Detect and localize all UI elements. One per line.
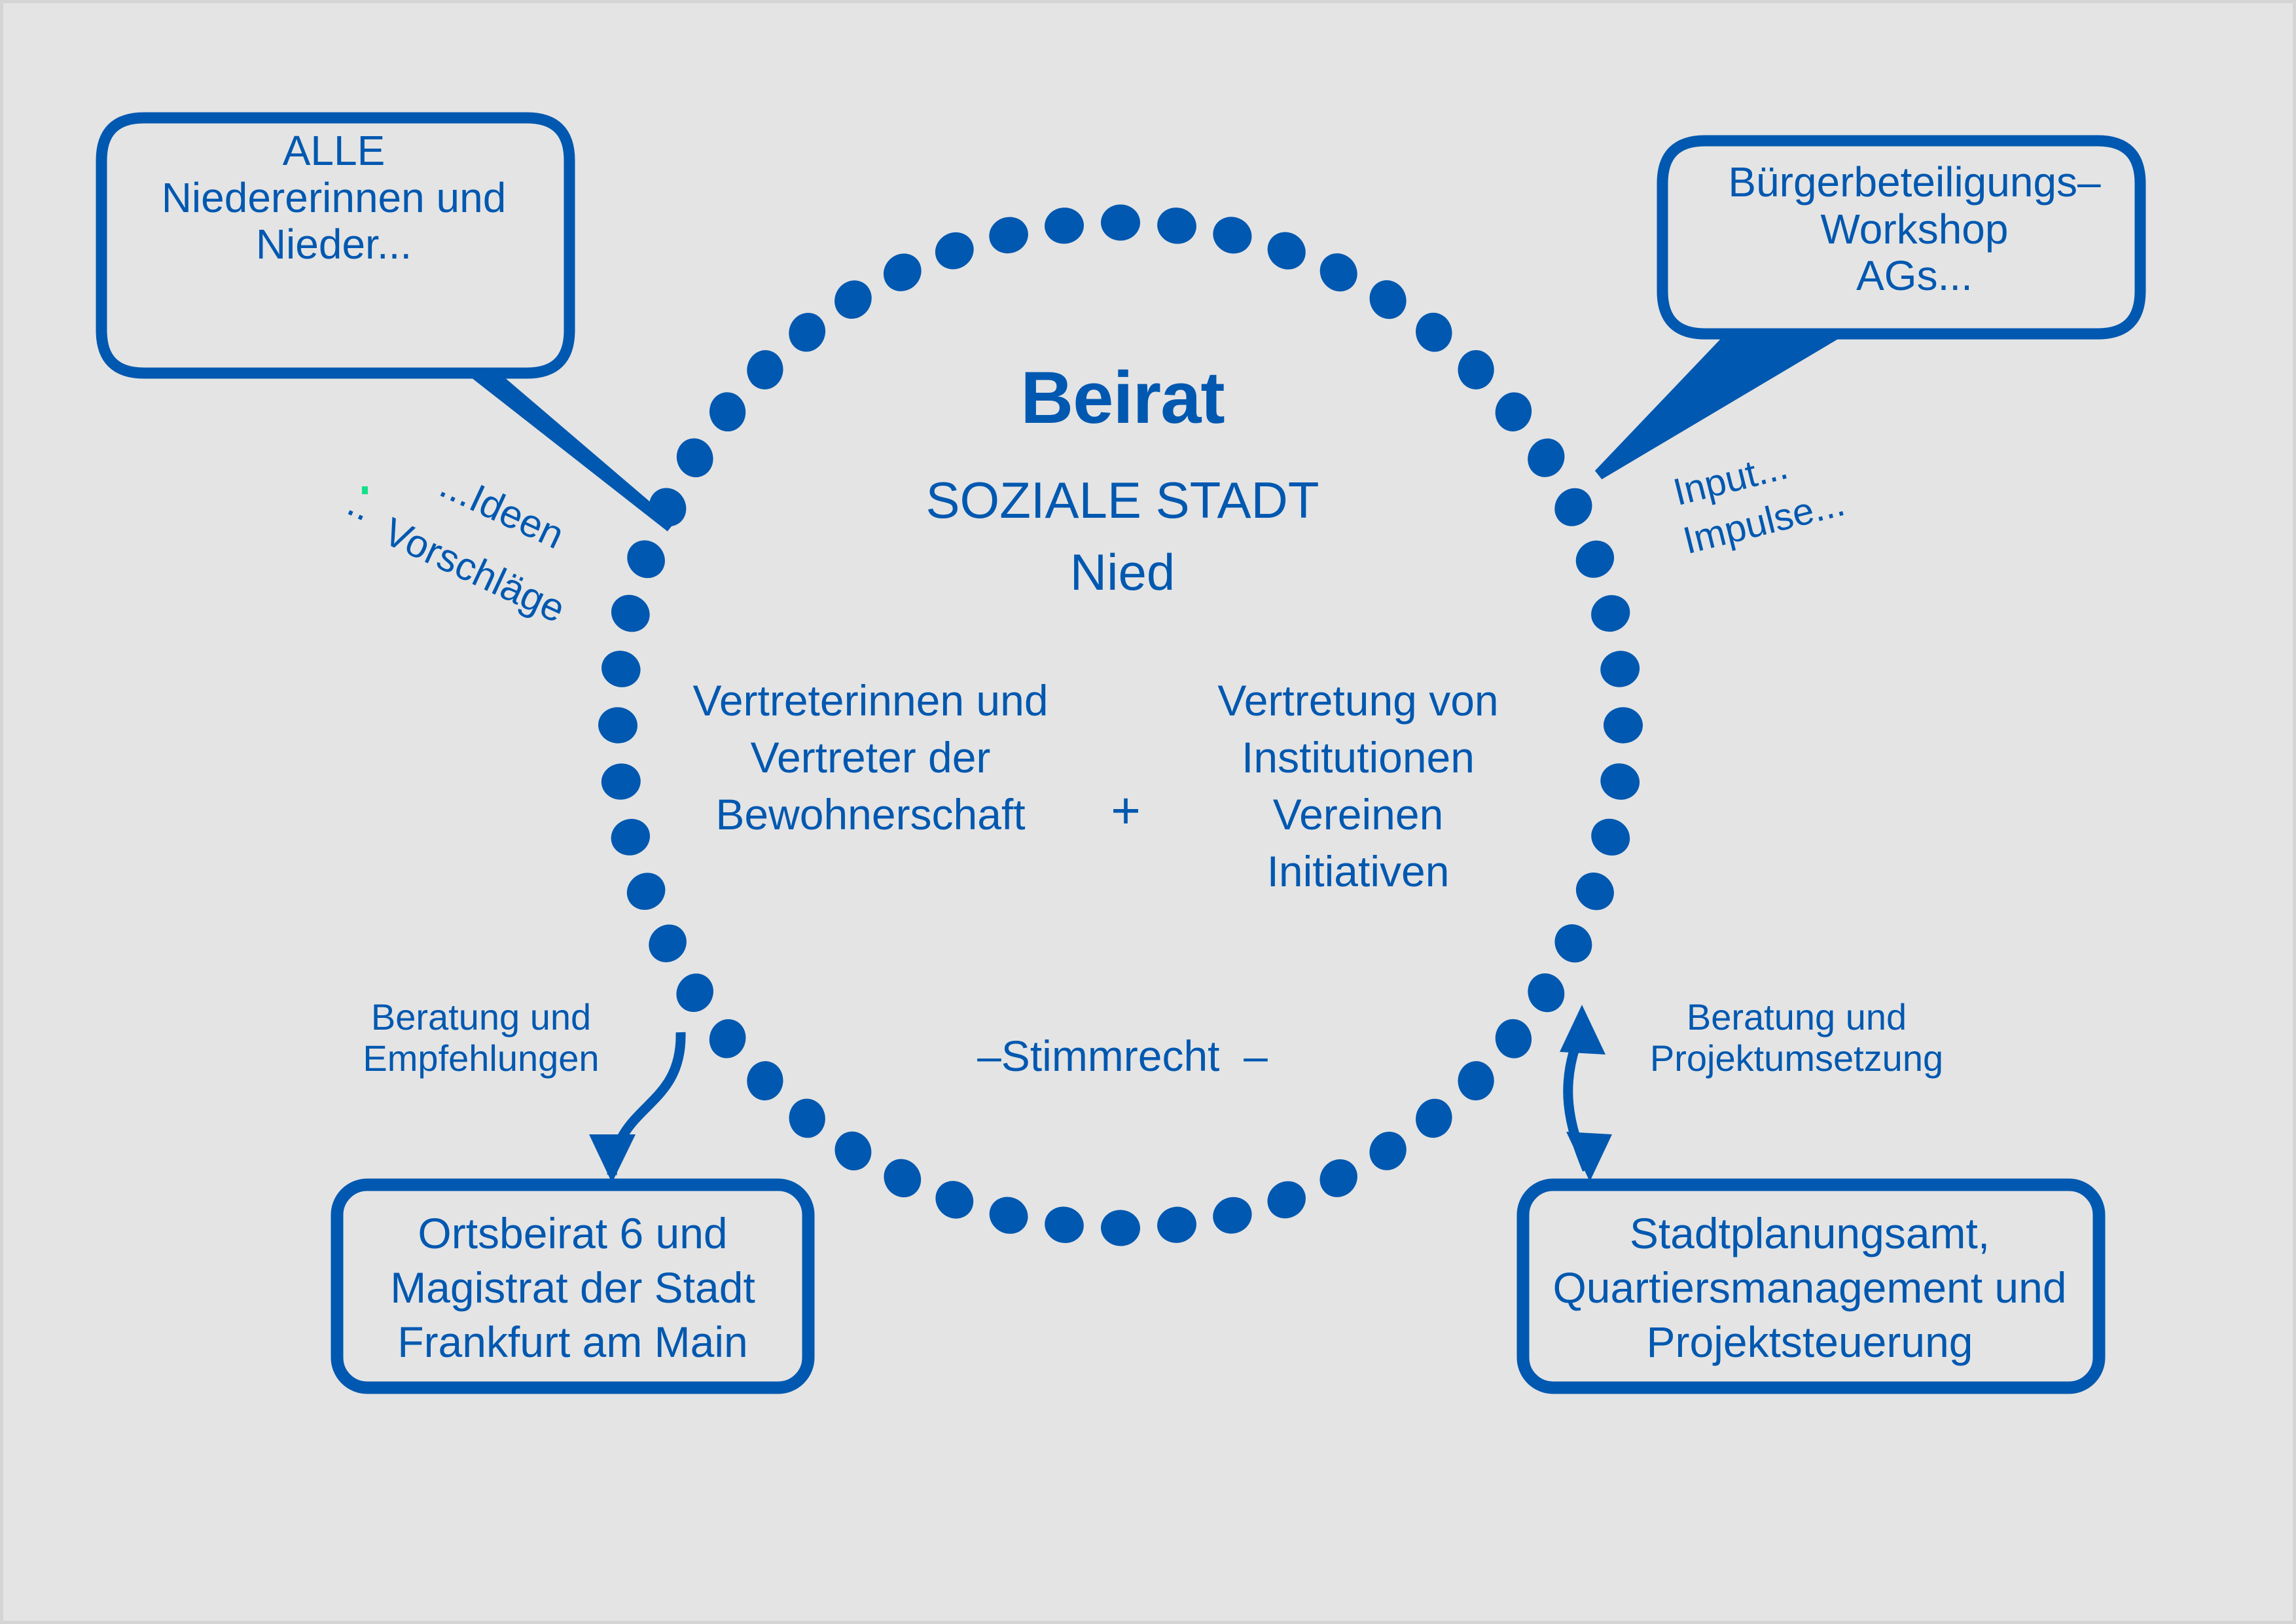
ring-dot [1492,1016,1535,1061]
annotation-beratung-projektumsetzung: Beratung und Projektumsetzung [1640,997,1954,1079]
ring-dot [1043,206,1086,245]
ring-dot [1412,310,1456,355]
ring-dot [604,588,656,640]
members-right-column: Vertretung von Institutionen Vereinen In… [1194,672,1522,900]
ring-dot [876,1152,928,1205]
ring-dot [787,1096,828,1140]
ring-dot [745,348,785,391]
ring-dot [672,433,719,482]
ring-dot [1100,1208,1141,1247]
ring-dot [1585,812,1636,862]
ring-dot [1411,1094,1457,1142]
center-title: Beirat [795,357,1450,439]
annotation-beratung-empfehlungen: Beratung und Empfehlungen [344,997,619,1079]
ring-dot [928,1173,982,1226]
diagram-canvas: ALLE Niedererinnen und Nieder... Bürgerb… [0,0,2296,1624]
ring-dot [745,1060,785,1102]
ring-dot [1101,204,1140,240]
ring-dot [708,390,747,433]
ring-dot [1547,917,1600,970]
ring-dot [1040,1202,1088,1248]
ring-dot [1547,480,1600,533]
bubble-top-right-label: Bürgerbeteiligungs– Workshop AGs... [1676,159,2153,300]
ring-dot [1596,759,1643,804]
ring-dot [829,1126,877,1176]
ring-dot [704,1015,751,1063]
ring-dot [1603,706,1643,744]
ring-dot [827,274,879,326]
ring-dot [928,225,980,276]
members-left-column: Vertreterinnen und Vertreter der Bewohne… [691,672,1050,843]
box-bottom-right-label: Stadtplanungsamt, Quartiersmanagement un… [1528,1206,2091,1369]
ring-dot [1491,388,1535,435]
ring-dot [1363,274,1412,325]
bubble-top-left-label: ALLE Niedererinnen und Nieder... [95,128,573,268]
ring-dot [600,761,643,802]
ring-dot [876,245,929,298]
ring-dot [641,916,694,970]
ring-dot [982,1190,1035,1241]
ring-dot [1521,432,1571,484]
ring-dot [1312,1151,1365,1205]
ring-dot [670,967,721,1019]
ring-dot [1458,350,1494,389]
ring-dot [1207,210,1258,260]
ring-dot [1363,1125,1413,1177]
ring-dot [1568,533,1621,585]
ring-dot [783,308,831,357]
center-subtitle-line2: Nied [795,544,1450,601]
ring-dot [1155,1204,1199,1246]
ring-dot [1154,204,1200,247]
plus-icon: + [1077,781,1175,840]
ring-dot [606,814,655,861]
ring-dot [1260,225,1313,278]
arrow-to-stadtplanungsamt [1560,1005,1612,1182]
green-marker-dot [362,486,368,494]
ring-dot [1568,865,1621,918]
ring-dot [1312,245,1365,298]
ring-dot [620,865,672,917]
box-bottom-left-label: Ortsbeirat 6 und Magistrat der Stadt Fra… [344,1206,802,1369]
ring-dot [619,533,672,586]
ring-dot [1522,967,1570,1018]
ring-dot [1457,1060,1495,1102]
voting-rights-note: –Stimmrecht – [933,1032,1312,1081]
ring-dot [1597,647,1642,691]
center-subtitle-line1: SOZIALE STADT [795,472,1450,529]
ring-dot [1585,589,1636,638]
ring-dot [1260,1174,1313,1226]
ring-dot [984,212,1033,259]
ring-dot [1208,1191,1257,1240]
ring-dot [596,705,639,745]
ring-dot [596,645,645,693]
